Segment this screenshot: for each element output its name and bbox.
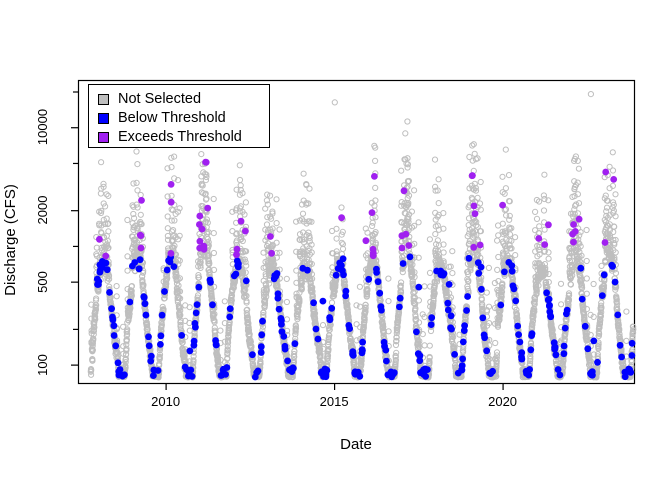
legend-item-below-threshold: Below Threshold [98, 111, 226, 126]
x-tick-label: 2020 [473, 394, 533, 409]
y-tick-label: 2000 [35, 187, 51, 233]
legend-item-label: Below Threshold [118, 111, 226, 126]
chart-legend: Not SelectedBelow ThresholdExceeds Thres… [88, 84, 270, 148]
legend-item-not-selected: Not Selected [98, 92, 201, 107]
legend-item-label: Not Selected [118, 92, 201, 107]
legend-swatch-icon [98, 113, 109, 124]
x-tick-label: 2015 [304, 394, 364, 409]
chart-figure: Discharge (CFS) Date 100500200010000 201… [0, 0, 672, 480]
y-tick-label: 10000 [35, 104, 51, 150]
legend-swatch-icon [98, 132, 109, 143]
legend-item-label: Exceeds Threshold [118, 130, 242, 145]
x-axis-title: Date [78, 436, 634, 453]
x-tick-label: 2010 [136, 394, 196, 409]
y-axis-title: Discharge (CFS) [0, 0, 22, 480]
legend-swatch-icon [98, 94, 109, 105]
legend-item-exceeds-threshold: Exceeds Threshold [98, 130, 242, 145]
y-tick-label: 500 [35, 259, 51, 305]
y-tick-label: 100 [35, 342, 51, 388]
